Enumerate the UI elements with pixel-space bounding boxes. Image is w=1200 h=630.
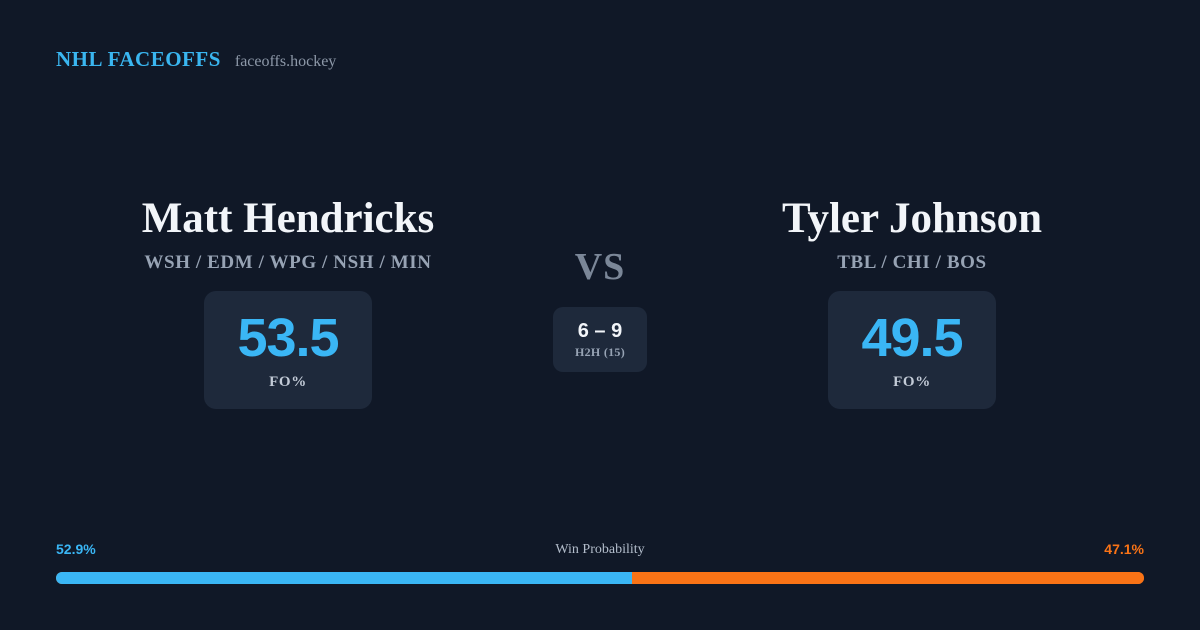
versus-label: VS bbox=[500, 246, 700, 288]
win-probability-section: 52.9% Win Probability 47.1% bbox=[56, 541, 1144, 584]
head-to-head-record: 6 – 9 bbox=[578, 320, 622, 343]
left-player-name: Matt Hendricks bbox=[68, 190, 508, 248]
faceoff-matchup-card: NHL FACEOFFS faceoffs.hockey Matt Hendri… bbox=[0, 0, 1200, 630]
head-to-head-card: 6 – 9 H2H (15) bbox=[553, 307, 647, 372]
left-player-faceoff-label: FO% bbox=[269, 374, 307, 391]
versus-panel: VS 6 – 9 H2H (15) bbox=[500, 246, 700, 372]
right-player-panel: Tyler Johnson TBL / CHI / BOS 49.5 FO% bbox=[692, 190, 1132, 409]
left-player-stat-card: 53.5 FO% bbox=[204, 291, 372, 409]
right-player-faceoff-value: 49.5 bbox=[861, 309, 962, 367]
matchup-section: Matt Hendricks WSH / EDM / WPG / NSH / M… bbox=[0, 190, 1200, 435]
brand-domain: faceoffs.hockey bbox=[235, 53, 336, 71]
left-player-faceoff-value: 53.5 bbox=[237, 309, 338, 367]
win-probability-bar-right-segment bbox=[632, 572, 1144, 584]
left-player-teams: WSH / EDM / WPG / NSH / MIN bbox=[68, 252, 508, 274]
left-player-panel: Matt Hendricks WSH / EDM / WPG / NSH / M… bbox=[68, 190, 508, 409]
right-player-faceoff-label: FO% bbox=[893, 374, 931, 391]
win-probability-title: Win Probability bbox=[56, 542, 1144, 558]
win-probability-bar bbox=[56, 572, 1144, 584]
win-probability-bar-left-segment bbox=[56, 572, 632, 584]
win-probability-labels: 52.9% Win Probability 47.1% bbox=[56, 541, 1144, 561]
right-win-probability-label: 47.1% bbox=[1104, 541, 1144, 557]
site-header: NHL FACEOFFS faceoffs.hockey bbox=[56, 47, 336, 72]
head-to-head-label: H2H (15) bbox=[575, 345, 625, 360]
right-player-name: Tyler Johnson bbox=[692, 190, 1132, 248]
right-player-stat-card: 49.5 FO% bbox=[828, 291, 996, 409]
brand-title: NHL FACEOFFS bbox=[56, 47, 221, 72]
right-player-teams: TBL / CHI / BOS bbox=[692, 252, 1132, 274]
